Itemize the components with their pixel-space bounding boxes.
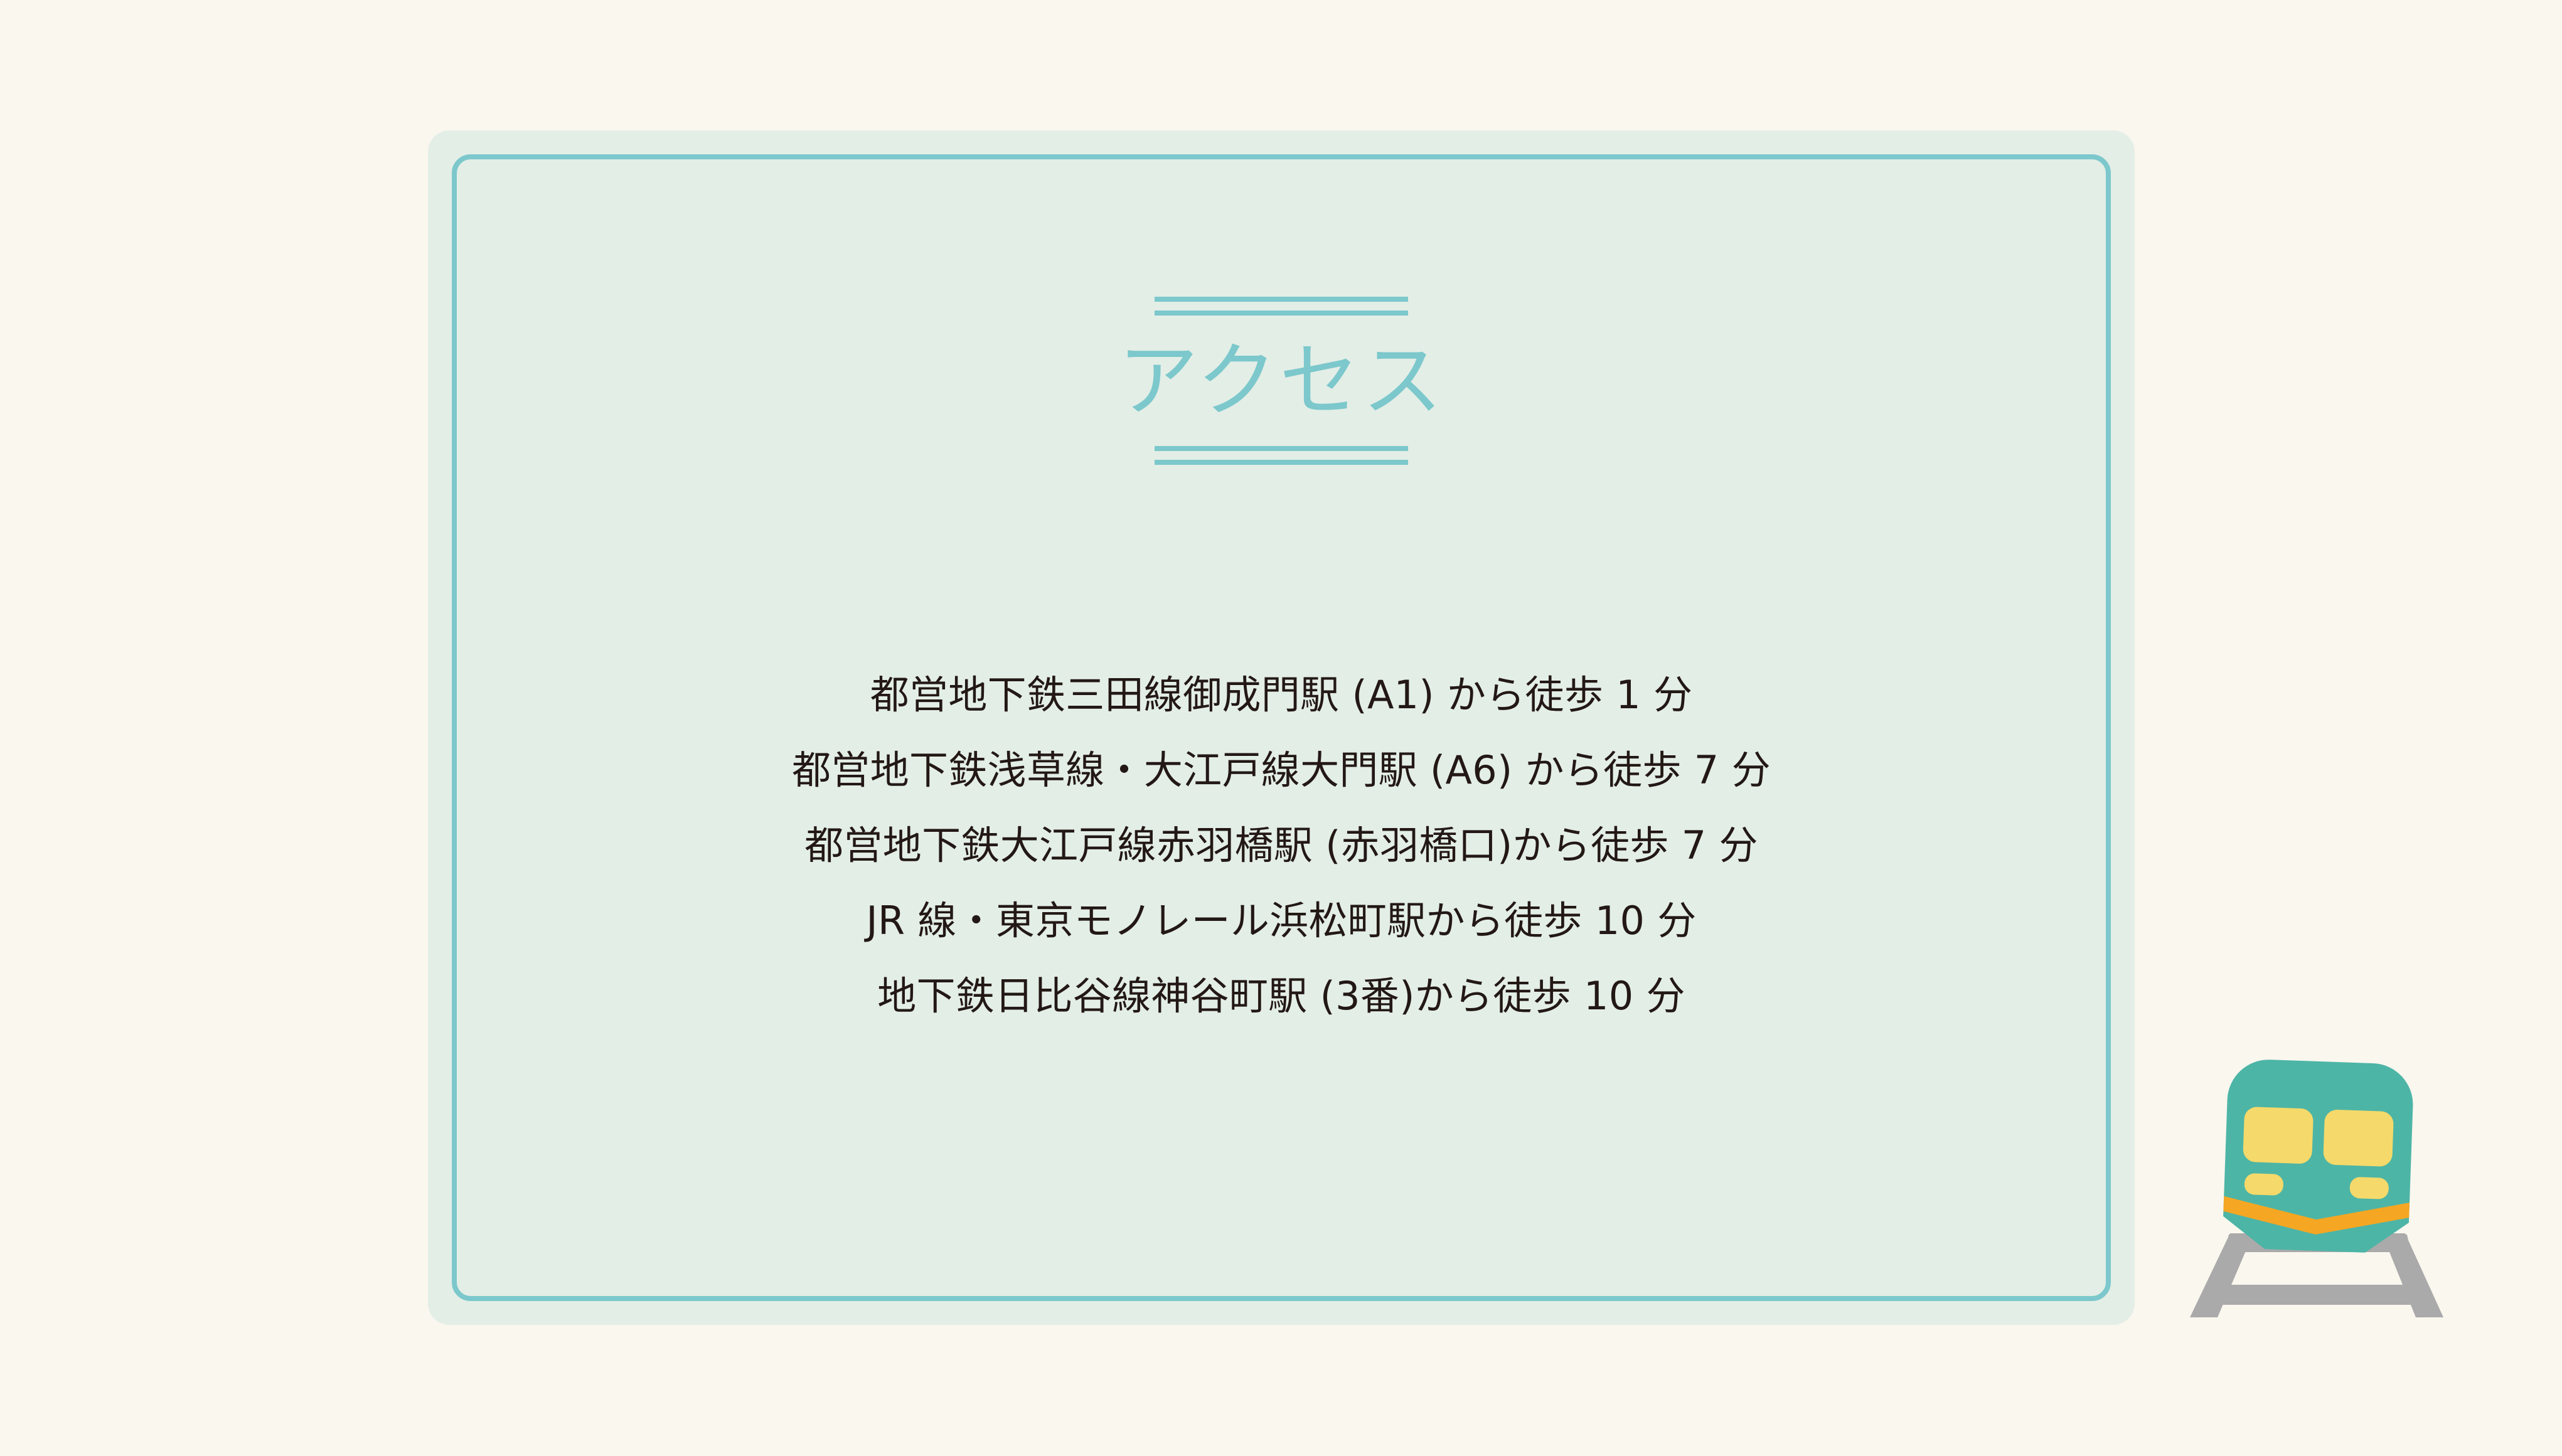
access-route-list: 都営地下鉄三田線御成門駅 (A1) から徒歩 1 分 都営地下鉄浅草線・大江戸線… (428, 657, 2135, 1034)
train-body (2222, 1058, 2414, 1254)
access-route-item: JR 線・東京モノレール浜松町駅から徒歩 10 分 (428, 883, 2135, 959)
title-rules-below (1155, 446, 1408, 465)
train-on-tracks-graphic (2180, 1046, 2456, 1335)
page-title: アクセス (428, 338, 2135, 425)
access-route-item: 地下鉄日比谷線神谷町駅 (3番)から徒歩 10 分 (428, 959, 2135, 1034)
train-window-right (2323, 1109, 2394, 1167)
access-card: アクセス 都営地下鉄三田線御成門駅 (A1) から徒歩 1 分 都営地下鉄浅草線… (428, 130, 2135, 1325)
access-route-item: 都営地下鉄浅草線・大江戸線大門駅 (A6) から徒歩 7 分 (428, 733, 2135, 808)
section-header: アクセス (428, 297, 2135, 465)
title-rules-above (1155, 297, 1408, 316)
train-headlight-left (2244, 1173, 2283, 1196)
rule-line-top-2 (1155, 311, 1408, 316)
rule-line-bottom-1 (1155, 446, 1408, 451)
train-window-left (2243, 1107, 2314, 1164)
train-icon (2180, 1046, 2456, 1335)
access-route-item: 都営地下鉄三田線御成門駅 (A1) から徒歩 1 分 (428, 657, 2135, 733)
train-headlight-right (2349, 1177, 2389, 1199)
access-route-item: 都営地下鉄大江戸線赤羽橋駅 (赤羽橋口)から徒歩 7 分 (428, 808, 2135, 883)
rule-line-bottom-2 (1155, 460, 1408, 465)
rule-line-top-1 (1155, 297, 1408, 302)
